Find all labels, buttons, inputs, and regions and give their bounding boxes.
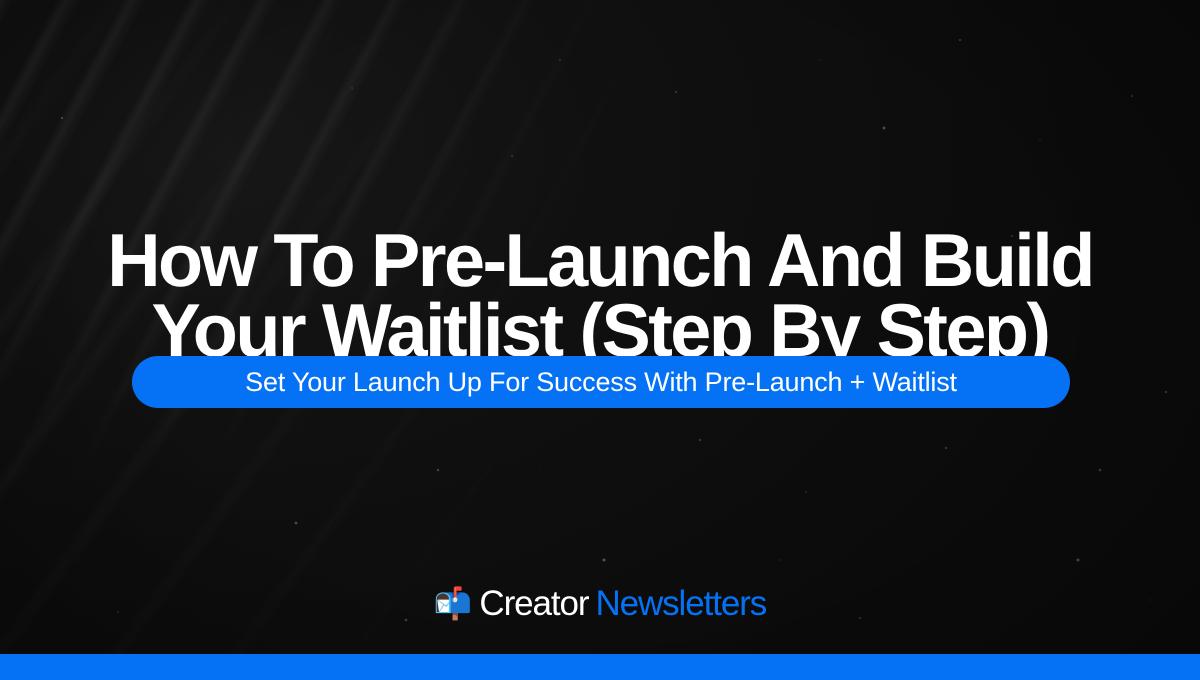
logo-word-primary: Creator [479,586,588,621]
subtitle-pill: Set Your Launch Up For Success With Pre-… [132,356,1070,408]
mailbox-icon: 📬 [434,588,473,619]
banner-content: How To Pre-Launch And Build Your Waitlis… [0,0,1200,680]
subtitle-text: Set Your Launch Up For Success With Pre-… [245,369,957,396]
bottom-accent-bar [0,654,1200,680]
blog-cover-banner: How To Pre-Launch And Build Your Waitlis… [0,0,1200,680]
headline-line-1: How To Pre-Launch And Build [44,226,1155,296]
brand-logo: 📬 CreatorNewsletters [0,586,1200,621]
page-title: How To Pre-Launch And Build Your Waitlis… [9,226,1191,366]
logo-word-secondary: Newsletters [595,586,766,621]
